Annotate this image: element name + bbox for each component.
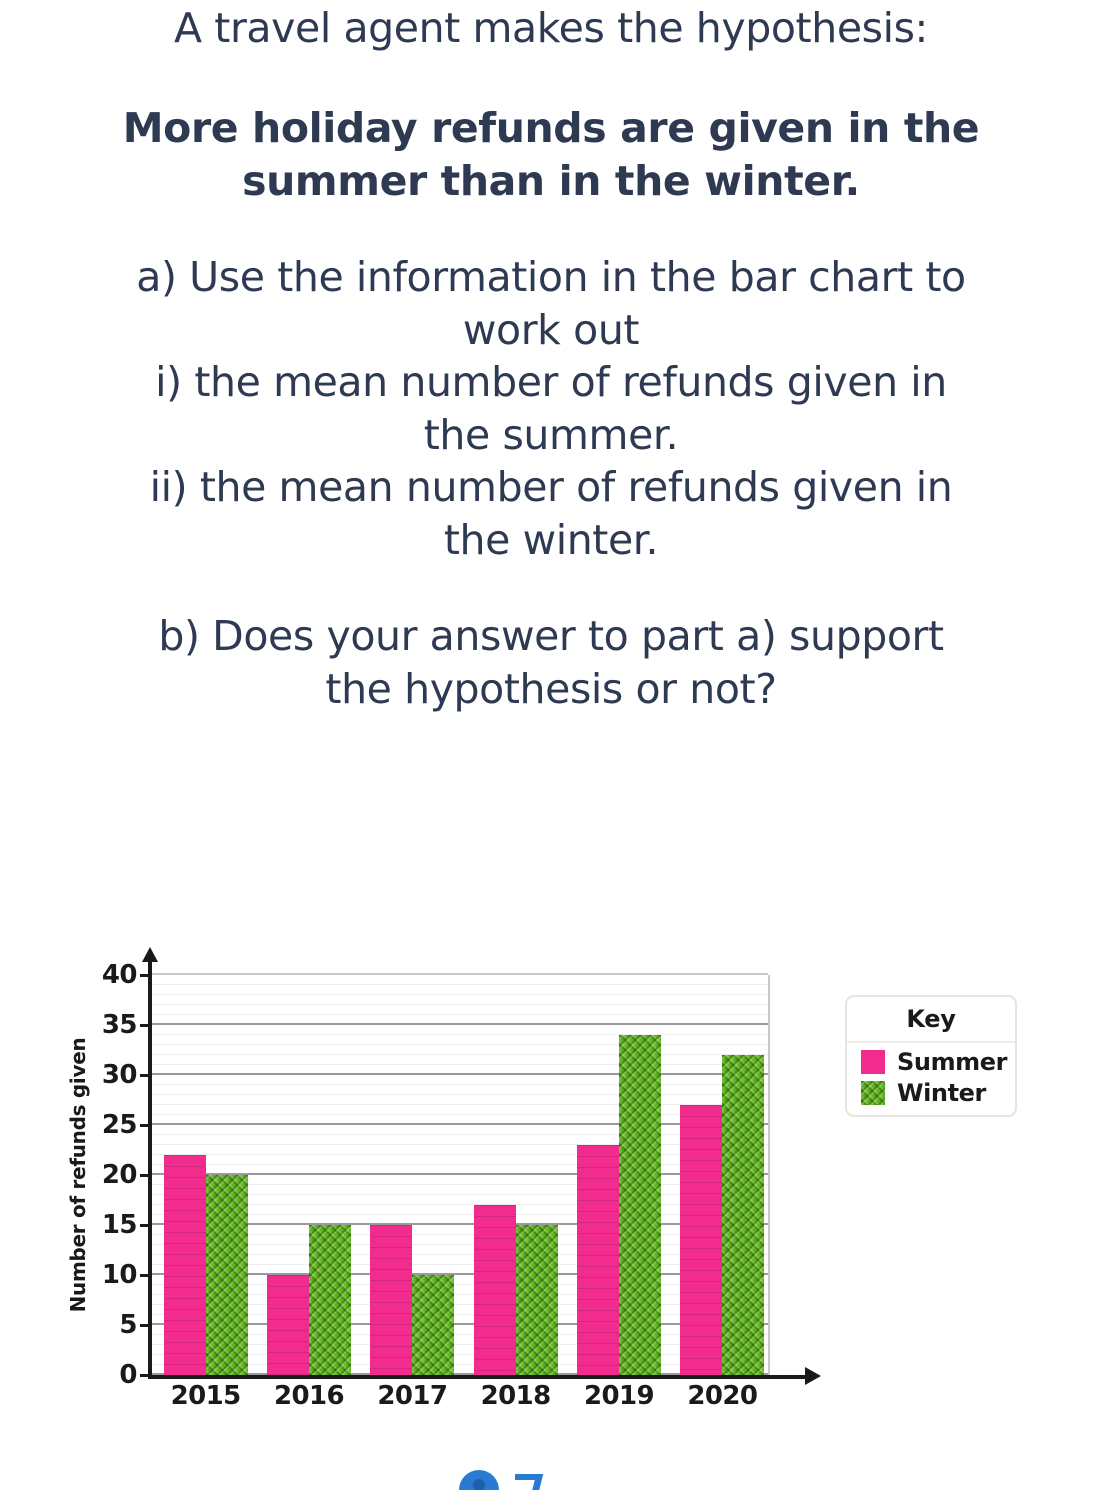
y-axis-tick-label: 10 — [102, 1262, 137, 1288]
y-axis-tick-label: 40 — [102, 962, 137, 988]
bar-group — [680, 975, 764, 1375]
y-axis-line — [148, 957, 152, 1377]
legend-items: SummerWinter — [847, 1043, 1015, 1115]
legend-label: Summer — [897, 1050, 1007, 1074]
y-axis-tick-label: 30 — [102, 1062, 137, 1088]
avatar-icon[interactable] — [459, 1470, 499, 1490]
bar-summer-2017 — [370, 1225, 412, 1375]
question-text-block: A travel agent makes the hypothesis: Mor… — [0, 0, 1102, 715]
bar-winter-2016 — [309, 1225, 351, 1375]
bar-winter-2018 — [516, 1225, 558, 1375]
hypothesis-intro: A travel agent makes the hypothesis: — [0, 2, 1102, 54]
part-a-ii-line-1: ii) the mean number of refunds given in — [0, 461, 1102, 513]
legend-item-winter: Winter — [861, 1081, 1015, 1105]
legend-label: Winter — [897, 1081, 986, 1105]
y-axis-tick-label: 35 — [102, 1012, 137, 1038]
bar-winter-2017 — [412, 1275, 454, 1375]
part-b-line-1: b) Does your answer to part a) support — [0, 610, 1102, 662]
x-axis-tick-label: 2018 — [481, 1381, 551, 1411]
x-axis-tick-labels: 201520162017201820192020 — [150, 1381, 770, 1423]
x-axis-arrow-icon — [805, 1367, 821, 1385]
y-axis-arrow-icon — [142, 947, 158, 962]
chart-plot-area: Number of refunds given 0510152025303540… — [55, 975, 815, 1405]
y-axis-tick-label: 0 — [119, 1362, 137, 1388]
x-axis-tick-label: 2020 — [687, 1381, 757, 1411]
x-axis-tick-label: 2015 — [171, 1381, 241, 1411]
bar-group — [370, 975, 454, 1375]
bar-winter-2015 — [206, 1175, 248, 1375]
avatar-head-icon — [473, 1479, 485, 1490]
bar-summer-2020 — [680, 1105, 722, 1375]
part-a-ii-line-2: the winter. — [0, 514, 1102, 566]
chart-legend-key: Key SummerWinter — [845, 995, 1017, 1117]
bar-winter-2019 — [619, 1035, 661, 1375]
bar-summer-2018 — [474, 1205, 516, 1375]
part-a-line-2: work out — [0, 304, 1102, 356]
legend-item-summer: Summer — [861, 1050, 1015, 1074]
bar-summer-2019 — [577, 1145, 619, 1375]
y-axis-tick-label: 25 — [102, 1112, 137, 1138]
x-axis-tick-label: 2019 — [584, 1381, 654, 1411]
y-axis-tick-label: 20 — [102, 1162, 137, 1188]
legend-swatch-winter-icon — [861, 1081, 885, 1105]
bar-group — [164, 975, 248, 1375]
part-a-line-1: a) Use the information in the bar chart … — [0, 251, 1102, 303]
x-axis-tick-label: 2016 — [274, 1381, 344, 1411]
bottom-partial-widget — [0, 1468, 1102, 1490]
legend-swatch-summer-icon — [861, 1050, 885, 1074]
hypothesis-statement-line-2: summer than in the winter. — [0, 155, 1102, 207]
y-axis-title-label: Number of refunds given — [66, 1038, 90, 1313]
legend-title: Key — [847, 997, 1015, 1043]
part-a-i-line-1: i) the mean number of refunds given in — [0, 356, 1102, 408]
x-axis-tick-label: 2017 — [377, 1381, 447, 1411]
bar-group — [474, 975, 558, 1375]
part-a-i-line-2: the summer. — [0, 409, 1102, 461]
y-axis-tick-labels: 0510152025303540 — [89, 975, 137, 1375]
bar-group — [267, 975, 351, 1375]
bar-summer-2015 — [164, 1155, 206, 1375]
bar-summer-2016 — [267, 1275, 309, 1375]
hypothesis-statement-line-1: More holiday refunds are given in the — [0, 102, 1102, 154]
bar-winter-2020 — [722, 1055, 764, 1375]
part-b-line-2: the hypothesis or not? — [0, 663, 1102, 715]
x-axis-line — [148, 1375, 808, 1379]
y-axis-tick-label: 5 — [119, 1312, 137, 1338]
bars-layer — [150, 975, 770, 1375]
bar-group — [577, 975, 661, 1375]
y-axis-tick-label: 15 — [102, 1212, 137, 1238]
